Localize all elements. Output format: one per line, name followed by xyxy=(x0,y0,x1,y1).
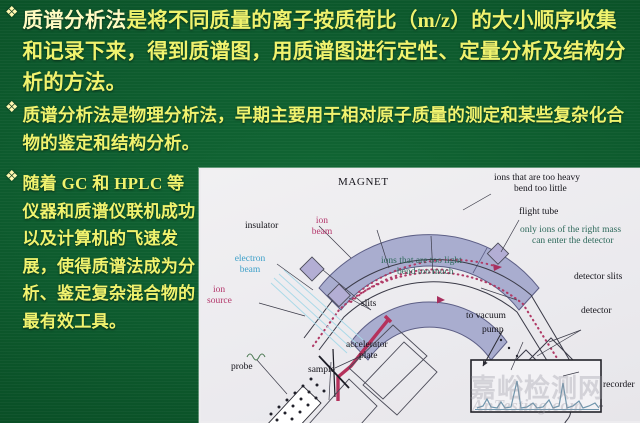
bullet-text-3: 随着 GC 和 HPLC 等仪器和质谱仪联机成功以及计算机的飞速发展，使得质谱法… xyxy=(22,170,200,335)
slide-canvas: ❖ 质谱分析法是将不同质量的离子按质荷比（m/z）的大小顺序收集和记录下来，得到… xyxy=(0,0,640,423)
label-flight-tube: flight tube xyxy=(519,207,558,218)
label-accelerator-line2: plate xyxy=(359,351,377,362)
label-too-light-line1: ions that are too light xyxy=(381,256,462,267)
filament-coil xyxy=(247,354,265,360)
label-recorder: recorder xyxy=(603,380,635,391)
bullet-marker-icon: ❖ xyxy=(5,170,18,185)
bullet-item-3: ❖ 随着 GC 和 HPLC 等仪器和质谱仪联机成功以及计算机的飞速发展，使得质… xyxy=(5,170,200,335)
mass-spectrometer-diagram: MAGNET ion beam insulator electron beam … xyxy=(199,168,640,423)
bullet-text-2: 质谱分析法是物理分析法，早期主要用于相对原子质量的测定和某些复杂化合物的鉴定和结… xyxy=(22,101,637,157)
bullet-highlight-1: 质谱分析法 xyxy=(22,10,126,32)
label-detector: detector xyxy=(581,306,612,317)
label-vacuum-line2: pump xyxy=(482,325,504,336)
label-right-mass-line2: can enter the detector xyxy=(532,236,614,247)
label-ion-source-line2: source xyxy=(207,296,232,307)
label-vacuum-line1: to vacuum xyxy=(466,311,506,322)
label-ion-source-line1: ion xyxy=(213,285,225,296)
bullet-item-1: ❖ 质谱分析法是将不同质量的离子按质荷比（m/z）的大小顺序收集和记录下来，得到… xyxy=(5,6,637,99)
slit-plate-1 xyxy=(300,257,324,281)
label-electron-beam-line2: beam xyxy=(223,265,277,276)
label-right-mass-line1: only ions of the right mass xyxy=(520,225,621,236)
label-too-light-line2: bend too much xyxy=(397,267,453,278)
label-sample: sample xyxy=(308,365,335,376)
label-detector-slits: detector slits xyxy=(574,272,622,283)
bullet-text-1: 质谱分析法是将不同质量的离子按质荷比（m/z）的大小顺序收集和记录下来，得到质谱… xyxy=(22,6,637,99)
label-too-heavy-line1: ions that are too heavy xyxy=(494,173,580,184)
label-slits: slits xyxy=(361,299,376,310)
bullet-marker-icon: ❖ xyxy=(5,6,18,21)
label-electron-beam-line1: electron xyxy=(219,254,281,265)
bullet-marker-icon: ❖ xyxy=(5,101,18,116)
diagram-surface: MAGNET ion beam insulator electron beam … xyxy=(201,170,640,421)
label-ion-beam-line1: ion xyxy=(302,216,342,227)
label-probe: probe xyxy=(231,362,253,373)
bullet-item-2: ❖ 质谱分析法是物理分析法，早期主要用于相对原子质量的测定和某些复杂化合物的鉴定… xyxy=(5,101,637,157)
label-insulator: insulator xyxy=(245,221,278,232)
label-ion-beam-line2: beam xyxy=(298,227,346,238)
label-too-heavy-line2: bend too little xyxy=(514,184,567,195)
diagram-vector xyxy=(201,170,640,423)
label-magnet: MAGNET xyxy=(338,177,389,188)
label-accelerator-line1: accelerator xyxy=(346,340,388,351)
